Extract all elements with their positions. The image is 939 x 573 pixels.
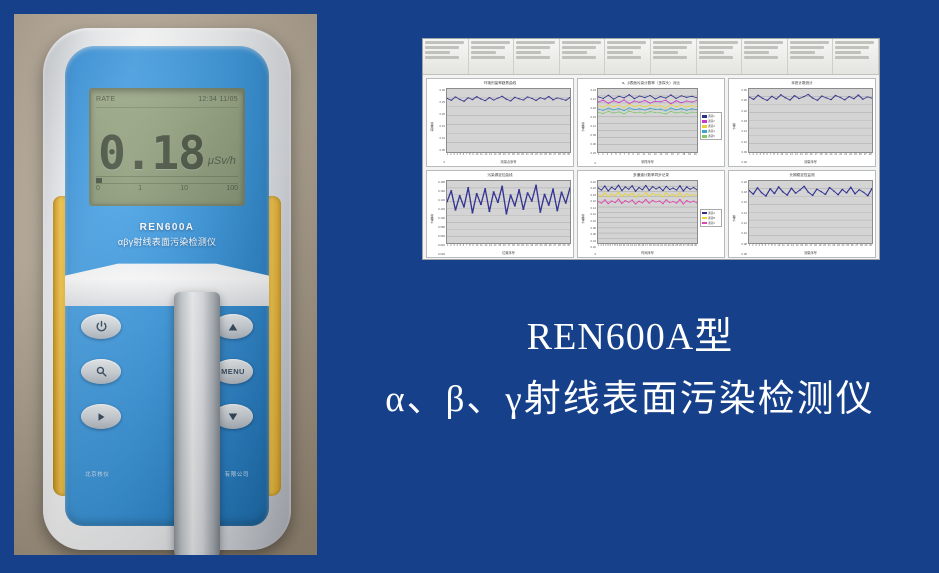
chart-y-tick: 0.20: [586, 186, 596, 190]
toolbar-group[interactable]: [788, 39, 834, 74]
toolbar-item-placeholder: [653, 41, 692, 44]
chart-y-ticks: 0.300.250.200.150.100.050: [435, 88, 446, 165]
lcd-reading: 0.18 μSv/h: [96, 108, 238, 174]
chart-y-tick: 0.160: [435, 189, 445, 193]
toolbar-item-placeholder: [790, 56, 824, 59]
chart-y-ticks: 0.220.200.180.160.140.120.100.080.060.04…: [586, 180, 597, 257]
legend-series-label: 通道C: [708, 221, 715, 225]
chart-plot-area: 计数率0.1800.1600.1400.1200.1000.0800.0600.…: [429, 180, 571, 257]
chart-y-tick: 0.04: [586, 239, 596, 243]
chart-y-tick: 0.06: [737, 252, 747, 256]
chart-y-axis-label: 计数率: [580, 180, 586, 257]
toolbar-item-placeholder: [471, 41, 510, 44]
chart-plot-wrap: 1234567891011121314151617181920采样序号: [597, 88, 698, 165]
hand-strap: [174, 292, 220, 555]
triangle-up-icon: [227, 321, 239, 333]
chart-y-tick: 0.20: [435, 112, 445, 116]
chart-y-tick: 0.020: [435, 252, 445, 256]
product-photo: RATE 12:34 11/05 0.18 μSv/h 0 1 10: [14, 14, 317, 555]
chart-x-axis-label: 测量点序号: [446, 159, 571, 165]
toolbar-item-placeholder: [790, 51, 815, 54]
power-button[interactable]: [81, 314, 121, 339]
chart-plot-area: 计数率0.220.200.180.160.140.120.100.080.060…: [580, 180, 722, 257]
title-block: REN600A型 α、β、γ射线表面污染检测仪: [330, 318, 930, 421]
chart-legend: 通道A通道B通道C: [700, 209, 722, 227]
chart-y-tick: 0.10: [737, 231, 747, 235]
chart-card[interactable]: 长期稳定性监测计数0.200.180.160.140.120.100.080.0…: [728, 170, 876, 259]
chart-x-axis-label: 时间序号: [597, 250, 698, 256]
chart-y-tick: 0.06: [737, 150, 747, 154]
toolbar-item-placeholder: [699, 41, 738, 44]
toolbar-item-placeholder: [699, 51, 724, 54]
play-icon: [95, 411, 107, 423]
chart-y-tick: 0.02: [586, 245, 596, 249]
toolbar-item-placeholder: [471, 46, 505, 49]
toolbar-item-placeholder: [516, 51, 541, 54]
toolbar-item-placeholder: [790, 46, 824, 49]
toolbar-item-placeholder: [471, 56, 505, 59]
toolbar-group[interactable]: [833, 39, 879, 74]
software-toolbar: [423, 39, 879, 75]
chart-y-tick: 0.120: [435, 207, 445, 211]
chart-y-tick: 0.02: [737, 160, 747, 164]
toolbar-item-placeholder: [835, 46, 869, 49]
toolbar-group[interactable]: [514, 39, 560, 74]
device-keypad: MENU: [65, 314, 269, 442]
toolbar-item-placeholder: [425, 41, 464, 44]
device-footer-text: 北京核仪 有限公司: [65, 470, 269, 478]
chart-y-tick: 0.180: [435, 180, 445, 184]
toolbar-item-placeholder: [425, 46, 459, 49]
toolbar-item-placeholder: [607, 56, 641, 59]
legend-color-swatch: [702, 120, 707, 123]
chart-y-tick: 0.30: [435, 88, 445, 92]
toolbar-item-placeholder: [790, 41, 829, 44]
chart-y-tick: 0.08: [586, 226, 596, 230]
chart-y-tick: 0.18: [586, 106, 596, 110]
chart-legend-item[interactable]: 通道2: [702, 119, 720, 123]
menu-button-label: MENU: [221, 367, 245, 376]
chart-y-tick: 0.18: [586, 193, 596, 197]
lcd-screen: RATE 12:34 11/05 0.18 μSv/h 0 1 10: [89, 88, 245, 206]
chart-y-tick: 0.16: [586, 199, 596, 203]
chart-title: 污染源定位曲线: [429, 173, 571, 180]
toolbar-group[interactable]: [605, 39, 651, 74]
radiation-detector-device: RATE 12:34 11/05 0.18 μSv/h 0 1 10: [43, 28, 291, 550]
chart-title: α、β表面污染计数率（多探头）对比: [580, 81, 722, 88]
toolbar-group[interactable]: [742, 39, 788, 74]
chart-y-tick: 0.15: [586, 115, 596, 119]
chart-y-ticks: 0.1800.1600.1400.1200.1000.0800.0600.040…: [435, 180, 446, 257]
chart-y-tick: 0.06: [586, 232, 596, 236]
toolbar-item-placeholder: [471, 51, 496, 54]
lcd-scale-tick: 1: [138, 185, 142, 192]
slide-canvas: RATE 12:34 11/05 0.18 μSv/h 0 1 10: [0, 0, 939, 573]
legend-color-swatch: [702, 217, 707, 220]
chart-y-tick: 0.08: [737, 242, 747, 246]
chart-card[interactable]: 环境剂量率趋势曲线剂量率0.300.250.200.150.100.050123…: [426, 78, 574, 167]
chart-plot-wrap: 1234567891011121314151617181920212223242…: [748, 180, 873, 257]
chart-y-ticks: 0.240.210.180.150.120.090.060.030: [586, 88, 597, 165]
lcd-unit: μSv/h: [208, 155, 236, 174]
chart-y-tick: 0.140: [435, 198, 445, 202]
power-icon: [95, 320, 108, 333]
lcd-scale: 0 1 10 100: [96, 184, 238, 192]
device-description-label: αβγ射线表面污染检测仪: [65, 235, 269, 248]
chart-y-tick: 0.14: [586, 206, 596, 210]
toolbar-item-placeholder: [653, 56, 687, 59]
chart-plot: [748, 180, 873, 245]
chart-y-tick: 0.21: [586, 97, 596, 101]
legend-series-label: 通道1: [708, 114, 715, 118]
device-model-label: REN600A: [65, 222, 269, 233]
chart-plot-area: 计数0.200.180.160.140.120.100.080.06123456…: [731, 180, 873, 257]
toolbar-item-placeholder: [425, 51, 450, 54]
toolbar-group[interactable]: [560, 39, 606, 74]
lcd-bargraph: [96, 176, 238, 184]
toolbar-item-placeholder: [835, 51, 860, 54]
chart-title: 本底计数统计: [731, 81, 873, 88]
toolbar-item-placeholder: [744, 51, 769, 54]
chart-y-tick: 0.12: [737, 221, 747, 225]
chart-y-ticks: 0.200.180.160.140.120.100.080.06: [737, 180, 748, 257]
toolbar-item-placeholder: [562, 51, 587, 54]
chart-legend-item[interactable]: 通道B: [702, 216, 720, 220]
lcd-scale-tick: 0: [96, 185, 100, 192]
toolbar-item-placeholder: [835, 41, 874, 44]
chart-plot-wrap: 1234567891011121314151617181920212223242…: [446, 180, 571, 257]
chart-y-tick: 0.14: [737, 211, 747, 215]
chart-y-axis-label: 计数: [731, 88, 737, 165]
toolbar-item-placeholder: [562, 56, 596, 59]
legend-series-label: 通道5: [708, 134, 715, 138]
toolbar-item-placeholder: [516, 41, 555, 44]
chart-plot: [597, 88, 698, 153]
lcd-value: 0.18: [98, 132, 205, 174]
toolbar-item-placeholder: [516, 46, 550, 49]
chart-legend: 通道1通道2通道3通道4通道5: [700, 112, 722, 140]
chart-title: 多通道计数率同步记录: [580, 173, 722, 180]
chart-y-tick: 0.30: [737, 88, 747, 92]
toolbar-item-placeholder: [653, 46, 687, 49]
chart-title: 环境剂量率趋势曲线: [429, 81, 571, 88]
chart-y-tick: 0.05: [435, 148, 445, 152]
toolbar-group[interactable]: [651, 39, 697, 74]
legend-color-swatch: [702, 115, 707, 118]
toolbar-item-placeholder: [744, 41, 783, 44]
toolbar-group[interactable]: [697, 39, 743, 74]
chart-y-tick: 0.22: [737, 109, 747, 113]
play-button[interactable]: [81, 404, 121, 429]
chart-plot-wrap: 1234567891011121314151617181920212223242…: [446, 88, 571, 165]
chart-y-tick: 0.18: [737, 190, 747, 194]
legend-color-swatch: [702, 125, 707, 128]
lcd-divider: [96, 107, 238, 108]
toolbar-item-placeholder: [744, 46, 778, 49]
legend-series-label: 通道2: [708, 119, 715, 123]
chart-y-tick: 0.12: [586, 212, 596, 216]
chart-y-tick: 0.060: [435, 234, 445, 238]
triangle-down-icon: [227, 411, 239, 423]
chart-y-axis-label: 计数率: [580, 88, 586, 165]
chart-legend-item[interactable]: 通道A: [702, 211, 720, 215]
page-subtitle: α、β、γ射线表面污染检测仪: [330, 380, 930, 421]
chart-y-tick: 0.20: [737, 180, 747, 184]
device-mid-band: [65, 260, 269, 306]
legend-color-swatch: [702, 135, 707, 138]
chart-x-axis-label: 位置序号: [446, 250, 571, 256]
chart-y-tick: 0.040: [435, 243, 445, 247]
chart-y-tick: 0.25: [435, 100, 445, 104]
legend-series-label: 通道B: [708, 216, 715, 220]
chart-y-tick: 0.16: [737, 200, 747, 204]
toolbar-group[interactable]: [423, 39, 469, 74]
chart-plot: [748, 88, 873, 153]
chart-y-tick: 0.03: [586, 151, 596, 155]
footer-left-text: 北京核仪: [85, 470, 109, 478]
chart-title: 长期稳定性监测: [731, 173, 873, 180]
lcd-scale-tick: 100: [226, 185, 238, 192]
toolbar-item-placeholder: [653, 51, 678, 54]
chart-y-tick: 0.09: [586, 133, 596, 137]
chart-y-tick: 0.26: [737, 98, 747, 102]
chart-plot: [446, 88, 571, 153]
chart-grid: 环境剂量率趋势曲线剂量率0.300.250.200.150.100.050123…: [423, 75, 879, 260]
legend-color-swatch: [702, 212, 707, 215]
chart-y-tick: 0.06: [586, 142, 596, 146]
chart-y-tick: 0.12: [586, 124, 596, 128]
chart-plot-wrap: 1234567891011121314151617181920212223242…: [597, 180, 698, 257]
chart-y-tick: 0.10: [737, 140, 747, 144]
toolbar-item-placeholder: [562, 46, 596, 49]
chart-legend-item[interactable]: 通道5: [702, 134, 720, 138]
lcd-scale-tick: 10: [180, 185, 188, 192]
toolbar-item-placeholder: [699, 46, 733, 49]
chart-y-tick: 0.24: [586, 88, 596, 92]
chart-y-tick: 0.100: [435, 216, 445, 220]
toolbar-item-placeholder: [516, 56, 550, 59]
lcd-bargraph-fill: [96, 178, 102, 183]
page-title: REN600A型: [330, 318, 930, 356]
toolbar-item-placeholder: [607, 46, 641, 49]
chart-legend-item[interactable]: 通道1: [702, 114, 720, 118]
chart-plot-wrap: 1234567891011121314151617181920212223242…: [748, 88, 873, 165]
chart-legend-item[interactable]: 通道C: [702, 221, 720, 225]
chart-y-tick: 0.18: [737, 119, 747, 123]
chart-y-axis-label: 计数率: [429, 180, 435, 257]
lcd-mode-label: RATE: [96, 96, 115, 103]
legend-series-label: 通道3: [708, 124, 715, 128]
chart-x-axis-label: 采样序号: [597, 159, 698, 165]
device-branding: REN600A αβγ射线表面污染检测仪: [65, 222, 269, 248]
chart-card[interactable]: α、β表面污染计数率（多探头）对比计数率0.240.210.180.150.12…: [577, 78, 725, 167]
software-screenshot-panel: 环境剂量率趋势曲线剂量率0.300.250.200.150.100.050123…: [422, 38, 880, 260]
chart-plot: [597, 180, 698, 245]
chart-legend-item[interactable]: 通道4: [702, 129, 720, 133]
chart-plot-area: 剂量率0.300.250.200.150.100.050123456789101…: [429, 88, 571, 165]
chart-y-tick: 0.15: [435, 124, 445, 128]
magnifier-icon: [95, 365, 108, 378]
toolbar-item-placeholder: [835, 56, 869, 59]
toolbar-item-placeholder: [607, 41, 646, 44]
chart-card[interactable]: 污染源定位曲线计数率0.1800.1600.1400.1200.1000.080…: [426, 170, 574, 259]
chart-x-axis-label: 测量序号: [748, 250, 873, 256]
toolbar-item-placeholder: [744, 56, 778, 59]
legend-series-label: 通道4: [708, 129, 715, 133]
toolbar-item-placeholder: [607, 51, 632, 54]
legend-series-label: 通道A: [708, 211, 715, 215]
search-button[interactable]: [81, 359, 121, 384]
chart-x-axis-label: 测量序号: [748, 159, 873, 165]
chart-plot: [446, 180, 571, 245]
chart-y-tick: 0.22: [586, 180, 596, 184]
footer-right-text: 有限公司: [225, 470, 249, 478]
chart-y-tick: 0: [586, 252, 596, 256]
chart-y-tick: 0: [586, 161, 596, 165]
toolbar-group[interactable]: [469, 39, 515, 74]
lcd-timestamp: 12:34 11/05: [198, 96, 238, 103]
chart-plot-area: 计数0.300.260.220.180.140.100.060.02123456…: [731, 88, 873, 165]
device-faceplate: RATE 12:34 11/05 0.18 μSv/h 0 1 10: [65, 46, 269, 526]
chart-y-tick: 0.10: [435, 136, 445, 140]
legend-color-swatch: [702, 130, 707, 133]
chart-y-ticks: 0.300.260.220.180.140.100.060.02: [737, 88, 748, 165]
legend-color-swatch: [702, 222, 707, 225]
toolbar-item-placeholder: [562, 41, 601, 44]
chart-card[interactable]: 多通道计数率同步记录计数率0.220.200.180.160.140.120.1…: [577, 170, 725, 259]
chart-y-tick: 0.14: [737, 129, 747, 133]
chart-legend-item[interactable]: 通道3: [702, 124, 720, 128]
lcd-status-row: RATE 12:34 11/05: [96, 93, 238, 106]
chart-y-axis-label: 剂量率: [429, 88, 435, 165]
chart-y-axis-label: 计数: [731, 180, 737, 257]
toolbar-item-placeholder: [699, 56, 733, 59]
chart-y-tick: 0.10: [586, 219, 596, 223]
chart-card[interactable]: 本底计数统计计数0.300.260.220.180.140.100.060.02…: [728, 78, 876, 167]
chart-y-tick: 0: [435, 160, 445, 164]
chart-y-tick: 0.080: [435, 225, 445, 229]
toolbar-item-placeholder: [425, 56, 459, 59]
chart-plot-area: 计数率0.240.210.180.150.120.090.060.0301234…: [580, 88, 722, 165]
